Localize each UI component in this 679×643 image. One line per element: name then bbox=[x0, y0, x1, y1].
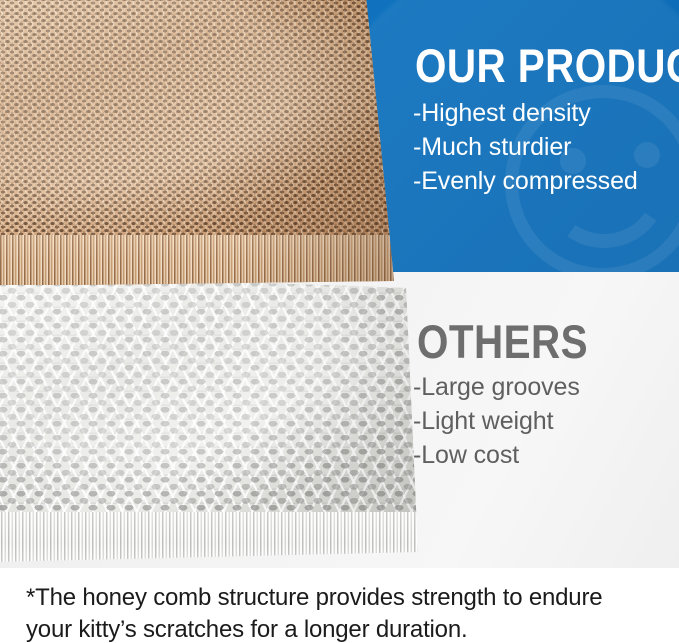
gray-mat-honeycomb-surface bbox=[0, 262, 424, 518]
smiley-face-watermark-eye-right bbox=[634, 142, 660, 168]
footnote-caption: *The honey comb structure provides stren… bbox=[26, 582, 666, 643]
cardboard-corrugated-edge bbox=[0, 235, 394, 285]
our-product-bullet-2: -Much sturdier bbox=[413, 130, 638, 164]
footnote-caption-line-2: your kitty’s scratches for a longer dura… bbox=[26, 614, 666, 643]
our-product-heading: OUR PRODUCT bbox=[415, 42, 679, 89]
our-product-bullet-3: -Evenly compressed bbox=[413, 164, 638, 198]
gray-honeycomb-mat-photo bbox=[0, 262, 424, 562]
comparison-poster: OUR PRODUCT -Highest density -Much sturd… bbox=[0, 0, 679, 643]
others-bullet-2: -Light weight bbox=[413, 404, 580, 438]
our-product-bullet-1: -Highest density bbox=[413, 96, 638, 130]
others-bullet-3: -Low cost bbox=[413, 438, 580, 472]
others-bullet-1: -Large grooves bbox=[413, 370, 580, 404]
cardboard-honeycomb-surface bbox=[0, 0, 394, 239]
others-heading: OTHERS bbox=[417, 318, 588, 365]
brown-cardboard-slab-photo bbox=[0, 0, 394, 286]
our-product-bullet-list: -Highest density -Much sturdier -Evenly … bbox=[413, 96, 638, 198]
others-bullet-list: -Large grooves -Light weight -Low cost bbox=[413, 370, 580, 472]
footnote-caption-line-1: *The honey comb structure provides stren… bbox=[26, 582, 666, 614]
